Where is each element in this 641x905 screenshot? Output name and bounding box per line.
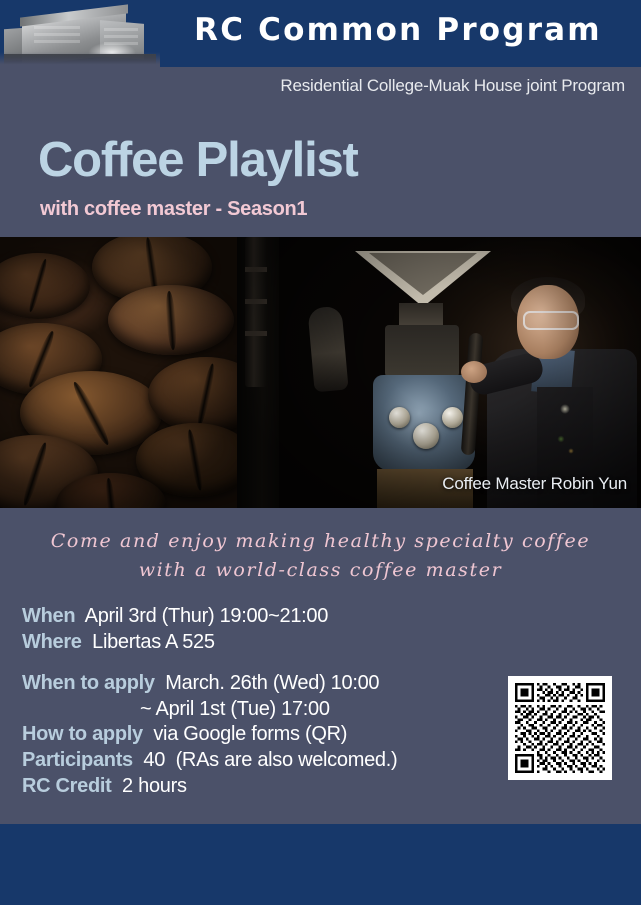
when-label: When [22, 605, 75, 627]
how-to-apply-label: How to apply [22, 723, 143, 745]
where-label: Where [22, 631, 82, 653]
tagline: Come and enjoy making healthy specialty … [0, 527, 641, 586]
qr-code[interactable] [508, 676, 612, 780]
rc-credit-label: RC Credit [22, 775, 112, 797]
header-subtitle: Residential College-Muak House joint Pro… [0, 76, 625, 96]
tagline-line-2: with a world-class coffee master [0, 556, 641, 585]
tagline-line-1: Come and enjoy making healthy specialty … [0, 527, 641, 556]
header-photo-fade [0, 52, 160, 68]
info-row-participants: Participants 40 (RAs are also welcomed.) [22, 748, 492, 774]
when-to-apply-label: When to apply [22, 672, 155, 694]
when-value: April 3rd (Thur) 19:00~21:00 [85, 605, 328, 627]
participants-value: 40 (RAs are also welcomed.) [143, 749, 397, 771]
how-to-apply-value: via Google forms (QR) [153, 723, 347, 745]
info-row-when-to-apply: When to apply March. 26th (Wed) 10:00 [22, 671, 492, 697]
rc-credit-value: 2 hours [122, 775, 187, 797]
info-row-how-to-apply: How to apply via Google forms (QR) [22, 722, 492, 748]
main-title: Coffee Playlist [38, 136, 358, 185]
info-spacer [22, 655, 492, 671]
footer-band: #Conducted in Korean #Individual Applica… [0, 824, 641, 905]
page-title: RC Common Program [168, 12, 628, 48]
qr-code-icon [515, 683, 605, 773]
coffee-beans-photo [0, 237, 237, 508]
when-to-apply-value: March. 26th (Wed) 10:00 [165, 672, 379, 694]
participants-label: Participants [22, 749, 133, 771]
info-row-rc-credit: RC Credit 2 hours [22, 774, 492, 800]
header-band: RC Common Program [0, 0, 641, 67]
poster: RC Common Program Residential College-Mu… [0, 0, 641, 905]
when-to-apply-value2: ~ April 1st (Tue) 17:00 [140, 698, 330, 720]
info-row-when: When April 3rd (Thur) 19:00~21:00 [22, 604, 492, 630]
info-row-where: Where Libertas A 525 [22, 630, 492, 656]
coffee-roaster-photo: Coffee Master Robin Yun [237, 237, 641, 508]
info-block: When April 3rd (Thur) 19:00~21:00 Where … [22, 604, 492, 799]
photo-caption: Coffee Master Robin Yun [442, 474, 627, 494]
info-row-when-to-apply-2: ~ April 1st (Tue) 17:00 [22, 697, 492, 723]
sub-title: with coffee master - Season1 [40, 198, 307, 221]
where-value: Libertas A 525 [92, 631, 215, 653]
photo-strip: Coffee Master Robin Yun [0, 237, 641, 508]
